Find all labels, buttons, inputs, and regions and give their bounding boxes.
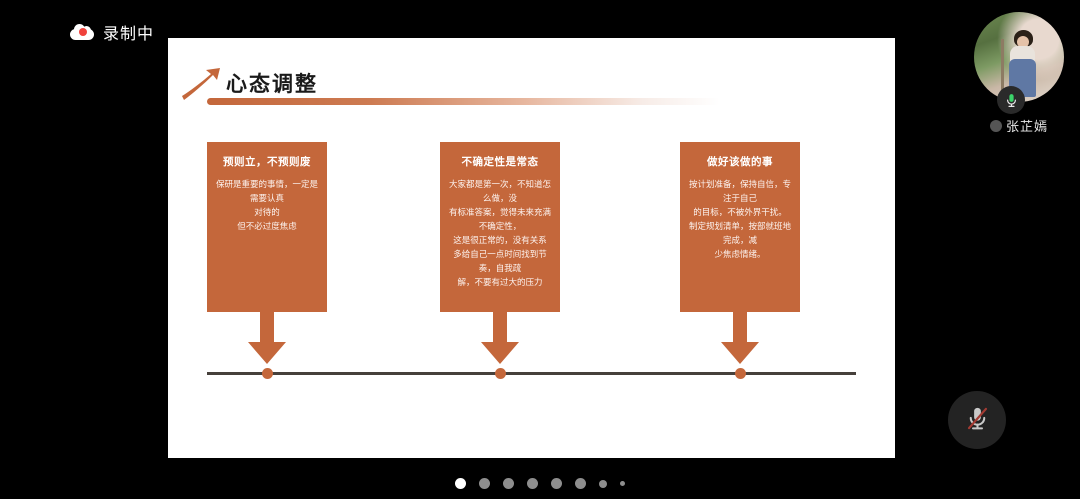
card-line: 这是很正常的，没有关系: [448, 234, 552, 248]
meeting-screen-share-view: 录制中 心态调整 预则立，不预则废 保研是重要的事情，一定是需要认真 对待的 但…: [0, 0, 1080, 499]
card-line: 但不必过度焦虑: [215, 220, 319, 234]
card-line: 对待的: [215, 206, 319, 220]
participant-name: 张芷嫣: [1006, 116, 1048, 135]
timeline-dot: [495, 368, 506, 379]
recording-indicator: 录制中: [70, 20, 154, 44]
page-indicator[interactable]: [0, 478, 1080, 489]
card-line: 有标准答案，觉得未来充满不确定性，: [448, 206, 552, 234]
participant-name-row: 张芷嫣: [970, 116, 1068, 135]
page-dot[interactable]: [575, 478, 586, 489]
arrow-down-icon: [715, 312, 765, 368]
card-line: 大家都是第一次，不知道怎么做，没: [448, 178, 552, 206]
microphone-muted-icon: [964, 405, 991, 435]
card-body: 保研是重要的事情，一定是需要认真 对待的 但不必过度焦虑: [215, 178, 319, 234]
page-dot[interactable]: [503, 478, 514, 489]
info-card: 预则立，不预则废 保研是重要的事情，一定是需要认真 对待的 但不必过度焦虑: [207, 142, 327, 312]
page-title: 心态调整: [226, 68, 318, 101]
card-line: 保研是重要的事情，一定是需要认真: [215, 178, 319, 206]
timeline-dot: [262, 368, 273, 379]
arrow-down-icon: [242, 312, 292, 368]
cloud-record-icon: [70, 24, 94, 40]
card-title: 不确定性是常态: [448, 156, 552, 169]
info-card: 做好该做的事 按计划准备，保持自信，专注于自己 的目标，不被外界干扰。 制定规划…: [680, 142, 800, 312]
recording-label: 录制中: [103, 20, 154, 44]
card-title: 预则立，不预则废: [215, 156, 319, 169]
info-card: 不确定性是常态 大家都是第一次，不知道怎么做，没 有标准答案，觉得未来充满不确定…: [440, 142, 560, 312]
microphone-on-icon: [997, 86, 1025, 114]
card-line: 少焦虑情绪。: [688, 248, 792, 262]
status-badge: [990, 120, 1002, 132]
card-line: 的目标，不被外界干扰。: [688, 206, 792, 220]
card-line: 按计划准备，保持自信，专注于自己: [688, 178, 792, 206]
page-dot[interactable]: [620, 481, 625, 486]
card-body: 按计划准备，保持自信，专注于自己 的目标，不被外界干扰。 制定规划清单，按部就班…: [688, 178, 792, 262]
page-dot[interactable]: [479, 478, 490, 489]
card-line: 解，不要有过大的压力: [448, 276, 552, 290]
card-group: 预则立，不预则废 保研是重要的事情，一定是需要认真 对待的 但不必过度焦虑 不确…: [168, 142, 895, 312]
card-body: 大家都是第一次，不知道怎么做，没 有标准答案，觉得未来充满不确定性， 这是很正常…: [448, 178, 552, 290]
timeline-axis: [207, 372, 856, 375]
page-dot-active[interactable]: [455, 478, 466, 489]
arrow-down-icon: [475, 312, 525, 368]
page-dot[interactable]: [527, 478, 538, 489]
page-dot[interactable]: [599, 480, 607, 488]
card-line: 多给自己一点时间找到节奏，自我疏: [448, 248, 552, 276]
timeline-dot: [735, 368, 746, 379]
page-dot[interactable]: [551, 478, 562, 489]
card-line: 制定规划清单，按部就班地完成，减: [688, 220, 792, 248]
card-title: 做好该做的事: [688, 156, 792, 169]
mute-button[interactable]: [948, 391, 1006, 449]
title-underline: [207, 98, 720, 105]
shared-slide[interactable]: 心态调整 预则立，不预则废 保研是重要的事情，一定是需要认真 对待的 但不必过度…: [168, 38, 895, 458]
participant-tile[interactable]: 张芷嫣: [970, 12, 1068, 135]
